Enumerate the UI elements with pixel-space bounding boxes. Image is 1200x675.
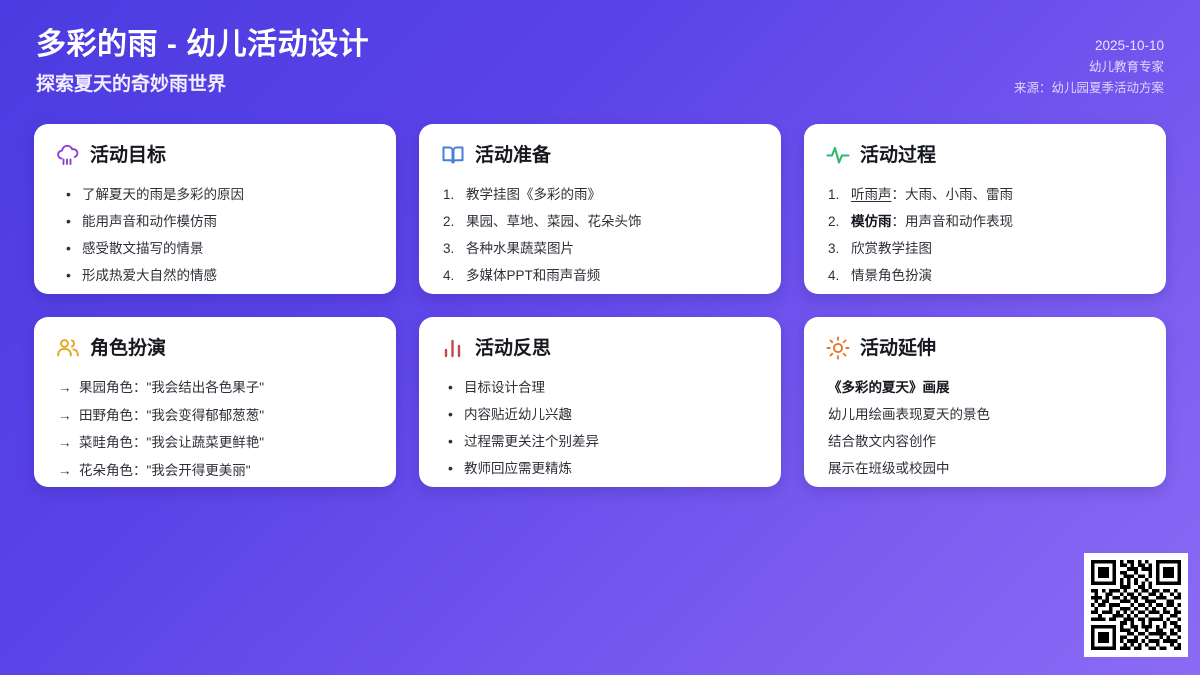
card-header: 角色扮演 xyxy=(56,336,374,360)
card-activity-preparation: 活动准备教学挂图《多彩的雨》果园、草地、菜园、花朵头饰各种水果蔬菜图片多媒体PP… xyxy=(419,124,781,294)
card-body: 《多彩的夏天》画展幼儿用绘画表现夏天的景色结合散文内容创作展示在班级或校园中 xyxy=(826,374,1144,482)
list-item-text: ：用声音和动作表现 xyxy=(892,214,1014,229)
list-item: 果园角色："我会结出各色果子" xyxy=(58,374,374,402)
card-header: 活动目标 xyxy=(56,143,374,167)
card-grid: 活动目标了解夏天的雨是多彩的原因能用声音和动作模仿雨感受散文描写的情景形成热爱大… xyxy=(34,124,1166,487)
card-header: 活动反思 xyxy=(441,336,759,360)
card-body: 教学挂图《多彩的雨》果园、草地、菜园、花朵头饰各种水果蔬菜图片多媒体PPT和雨声… xyxy=(441,181,759,289)
list-item: 教学挂图《多彩的雨》 xyxy=(443,181,759,208)
list-item: 果园、草地、菜园、花朵头饰 xyxy=(443,208,759,235)
card-body: 了解夏天的雨是多彩的原因能用声音和动作模仿雨感受散文描写的情景形成热爱大自然的情… xyxy=(56,181,374,289)
qr-code-container[interactable] xyxy=(1084,553,1188,657)
card-activity-reflection: 活动反思目标设计合理内容贴近幼儿兴趣过程需更关注个别差异教师回应需更精炼 xyxy=(419,317,781,487)
card-body: 听雨声：大雨、小雨、雷雨模仿雨：用声音和动作表现欣赏教学挂图情景角色扮演 xyxy=(826,181,1144,289)
cloud-rain-icon xyxy=(56,143,80,167)
card-title: 活动目标 xyxy=(90,146,166,165)
text-line: 结合散文内容创作 xyxy=(828,428,1144,455)
list-item-emphasis: 模仿雨 xyxy=(851,214,892,229)
header-meta: 2025-10-10 幼儿教育专家 来源：幼儿园夏季活动方案 xyxy=(1014,26,1164,99)
card-title: 活动过程 xyxy=(860,146,936,165)
list-item: 教师回应需更精炼 xyxy=(445,455,759,482)
list-item: 内容贴近幼儿兴趣 xyxy=(445,401,759,428)
list-item-text: ：大雨、小雨、雷雨 xyxy=(892,187,1014,202)
card-title: 活动准备 xyxy=(475,146,551,165)
list-item: 田野角色："我会变得郁郁葱葱" xyxy=(58,402,374,430)
text-line: 幼儿用绘画表现夏天的景色 xyxy=(828,401,1144,428)
card-header: 活动过程 xyxy=(826,143,1144,167)
card-header: 活动延伸 xyxy=(826,336,1144,360)
activity-pulse-icon xyxy=(826,143,850,167)
users-icon xyxy=(56,336,80,360)
list-item: 菜畦角色："我会让蔬菜更鲜艳" xyxy=(58,429,374,457)
card-title: 活动反思 xyxy=(475,339,551,358)
card-header: 活动准备 xyxy=(441,143,759,167)
card-role-play: 角色扮演果园角色："我会结出各色果子"田野角色："我会变得郁郁葱葱"菜畦角色："… xyxy=(34,317,396,487)
card-activity-goal: 活动目标了解夏天的雨是多彩的原因能用声音和动作模仿雨感受散文描写的情景形成热爱大… xyxy=(34,124,396,294)
header-left: 多彩的雨 - 幼儿活动设计 探索夏天的奇妙雨世界 xyxy=(36,26,369,96)
list-item: 各种水果蔬菜图片 xyxy=(443,235,759,262)
list-item: 过程需更关注个别差异 xyxy=(445,428,759,455)
slide-header: 多彩的雨 - 幼儿活动设计 探索夏天的奇妙雨世界 2025-10-10 幼儿教育… xyxy=(0,0,1200,112)
text-line: 《多彩的夏天》画展 xyxy=(828,374,1144,401)
card-title: 角色扮演 xyxy=(90,339,166,358)
card-body: 果园角色："我会结出各色果子"田野角色："我会变得郁郁葱葱"菜畦角色："我会让蔬… xyxy=(56,374,374,485)
list-item: 听雨声：大雨、小雨、雷雨 xyxy=(828,181,1144,208)
list-item: 欣赏教学挂图 xyxy=(828,235,1144,262)
list-item: 形成热爱大自然的情感 xyxy=(60,262,374,289)
card-activity-extension: 活动延伸《多彩的夏天》画展幼儿用绘画表现夏天的景色结合散文内容创作展示在班级或校… xyxy=(804,317,1166,487)
bar-chart-icon xyxy=(441,336,465,360)
list-item: 了解夏天的雨是多彩的原因 xyxy=(60,181,374,208)
card-title: 活动延伸 xyxy=(860,339,936,358)
list-item: 目标设计合理 xyxy=(445,374,759,401)
list-item-text: 欣赏教学挂图 xyxy=(851,241,932,256)
list-item: 情景角色扮演 xyxy=(828,262,1144,289)
list-item: 能用声音和动作模仿雨 xyxy=(60,208,374,235)
page-title: 多彩的雨 - 幼儿活动设计 xyxy=(36,26,369,64)
list-item: 模仿雨：用声音和动作表现 xyxy=(828,208,1144,235)
sun-icon xyxy=(826,336,850,360)
qr-code-image xyxy=(1091,560,1181,650)
list-item-text: 情景角色扮演 xyxy=(851,268,932,283)
list-item: 多媒体PPT和雨声音频 xyxy=(443,262,759,289)
meta-author: 幼儿教育专家 xyxy=(1089,57,1164,78)
text-line: 展示在班级或校园中 xyxy=(828,455,1144,482)
page-subtitle: 探索夏天的奇妙雨世界 xyxy=(36,73,369,97)
card-activity-process: 活动过程听雨声：大雨、小雨、雷雨模仿雨：用声音和动作表现欣赏教学挂图情景角色扮演 xyxy=(804,124,1166,294)
list-item: 花朵角色："我会开得更美丽" xyxy=(58,457,374,485)
list-item: 感受散文描写的情景 xyxy=(60,235,374,262)
meta-date: 2025-10-10 xyxy=(1095,35,1164,57)
book-open-icon xyxy=(441,143,465,167)
meta-source: 来源：幼儿园夏季活动方案 xyxy=(1014,78,1164,99)
list-item-emphasis: 听雨声 xyxy=(851,187,892,202)
card-body: 目标设计合理内容贴近幼儿兴趣过程需更关注个别差异教师回应需更精炼 xyxy=(441,374,759,482)
